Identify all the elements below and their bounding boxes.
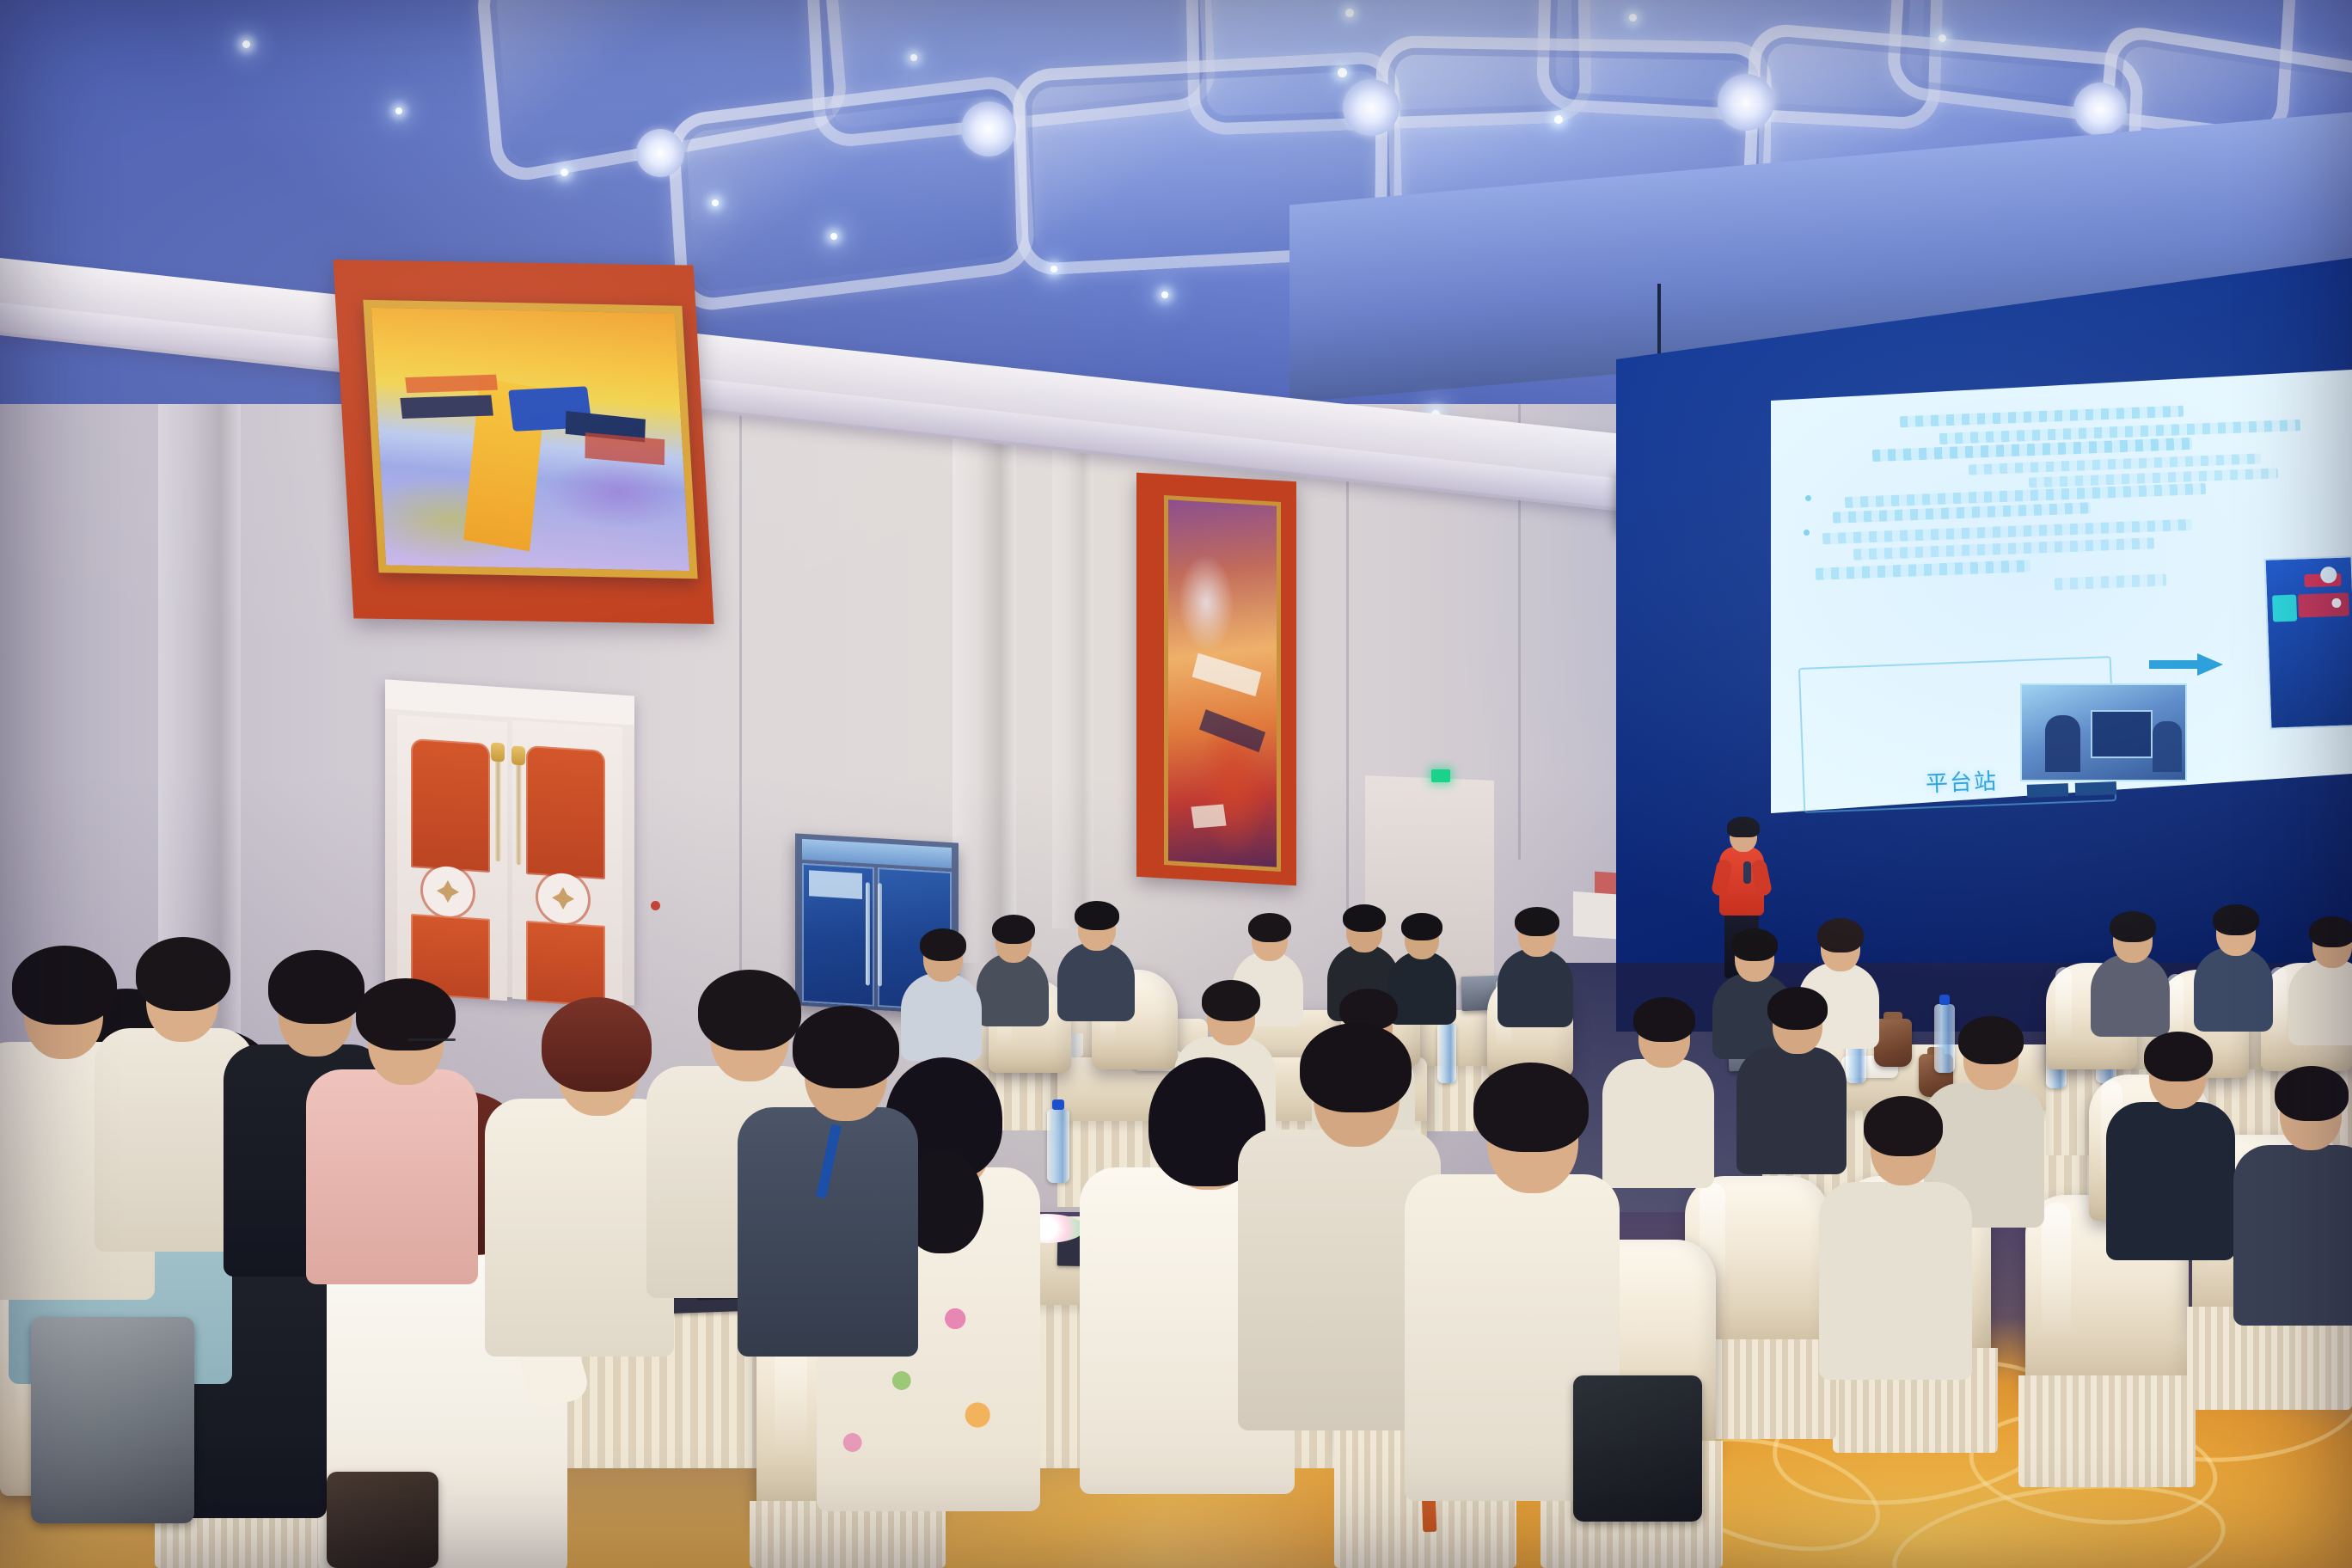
ceiling-rosette bbox=[636, 129, 684, 177]
hair bbox=[920, 928, 966, 961]
hair bbox=[2309, 916, 2352, 947]
torso bbox=[2233, 1145, 2352, 1326]
recessed-downlight bbox=[242, 40, 250, 48]
hair bbox=[1633, 997, 1695, 1042]
door-panel-left bbox=[411, 738, 490, 873]
hair bbox=[1401, 913, 1442, 940]
hair bbox=[2110, 911, 2156, 942]
mobile-promo-banner bbox=[2272, 595, 2297, 622]
hair bbox=[2144, 1032, 2213, 1081]
hair bbox=[1075, 901, 1119, 930]
hair bbox=[992, 915, 1035, 944]
water-bottle[interactable] bbox=[1934, 1004, 1955, 1073]
ceiling-rosette bbox=[961, 101, 1016, 156]
hair bbox=[136, 937, 230, 1011]
hair bbox=[1473, 1063, 1589, 1152]
cooler-label bbox=[809, 870, 862, 899]
hair bbox=[2213, 904, 2259, 935]
ceiling-rosette bbox=[2073, 83, 2127, 136]
cooler-handle-right[interactable] bbox=[878, 883, 882, 986]
clay-teapot[interactable] bbox=[1874, 1019, 1912, 1067]
water-bottle[interactable] bbox=[1047, 1109, 1069, 1183]
torso bbox=[485, 1099, 674, 1357]
abstract-vertical-painting bbox=[1164, 495, 1281, 872]
torso bbox=[1602, 1059, 1714, 1188]
torso bbox=[1057, 942, 1135, 1021]
slide-mobile-preview bbox=[2264, 555, 2352, 729]
paint-stroke bbox=[1199, 709, 1265, 752]
torso bbox=[1736, 1047, 1847, 1174]
torso bbox=[1498, 948, 1573, 1027]
handbag bbox=[1573, 1375, 1702, 1522]
slide-text-block bbox=[1900, 406, 2184, 428]
eyeglasses-icon bbox=[407, 1038, 456, 1041]
slide-thumbnail-photo bbox=[2020, 683, 2187, 781]
recessed-downlight bbox=[1939, 34, 1946, 42]
torso bbox=[2091, 954, 2170, 1037]
hair bbox=[1864, 1096, 1943, 1156]
presenter-hair bbox=[1727, 817, 1760, 837]
recessed-downlight bbox=[1345, 9, 1354, 17]
cooler-handle-left[interactable] bbox=[866, 882, 870, 985]
recessed-downlight bbox=[1554, 115, 1563, 124]
paint-stroke bbox=[1192, 652, 1261, 696]
hair bbox=[1767, 987, 1828, 1030]
hair bbox=[2275, 1066, 2349, 1121]
right-arrow-icon bbox=[2149, 653, 2223, 676]
ceiling-rosette bbox=[1343, 79, 1400, 136]
hair bbox=[1248, 913, 1291, 942]
torso bbox=[901, 973, 982, 1061]
hair bbox=[793, 1006, 899, 1088]
torso bbox=[2288, 959, 2352, 1045]
paint-stroke bbox=[405, 375, 497, 393]
handbag bbox=[327, 1472, 438, 1568]
door-knob-left[interactable] bbox=[491, 742, 505, 762]
slide-text-block bbox=[2055, 574, 2166, 591]
recessed-downlight bbox=[1050, 266, 1057, 273]
mobile-promo-banner bbox=[2298, 592, 2349, 617]
paint-stroke bbox=[1191, 804, 1226, 828]
hair bbox=[1958, 1016, 2024, 1064]
recessed-downlight bbox=[560, 168, 568, 176]
recessed-downlight bbox=[395, 107, 402, 114]
torso bbox=[2194, 947, 2273, 1032]
wall-alarm-icon bbox=[651, 901, 660, 910]
paint-stroke bbox=[401, 395, 493, 419]
hair bbox=[1817, 918, 1864, 952]
conference-hall-photo: 平台站 bbox=[0, 0, 2352, 1568]
slide-card-button bbox=[2027, 783, 2069, 798]
door-panel-lower-right bbox=[526, 921, 605, 1007]
slide-text-block bbox=[1816, 560, 2030, 580]
abstract-landscape-painting bbox=[363, 300, 697, 579]
hair bbox=[698, 970, 801, 1050]
torso bbox=[2106, 1102, 2235, 1260]
recessed-downlight bbox=[830, 233, 837, 240]
slide-card-button bbox=[2075, 781, 2117, 796]
photo-person bbox=[2153, 721, 2182, 772]
recessed-downlight bbox=[1338, 68, 1347, 77]
ceiling-rosette bbox=[1718, 74, 1774, 131]
torso bbox=[1819, 1182, 1972, 1380]
hair bbox=[1300, 1023, 1412, 1112]
paint-stroke bbox=[585, 432, 665, 465]
recessed-downlight bbox=[712, 199, 719, 206]
hair bbox=[12, 946, 117, 1025]
slide-caption-text: 平台站 bbox=[1925, 763, 1998, 798]
door-knob-right[interactable] bbox=[511, 745, 525, 765]
torso bbox=[977, 952, 1049, 1026]
door-handle-right[interactable] bbox=[516, 760, 522, 865]
recessed-downlight bbox=[1629, 14, 1637, 21]
backpack bbox=[31, 1317, 194, 1523]
hair bbox=[1202, 980, 1260, 1021]
chair-skirt bbox=[2018, 1375, 2196, 1487]
hair bbox=[1343, 904, 1386, 932]
photo-monitor bbox=[2091, 710, 2153, 759]
exit-sign-icon bbox=[1431, 769, 1450, 782]
torso bbox=[306, 1069, 478, 1284]
recessed-downlight bbox=[910, 54, 917, 61]
photo-person bbox=[2045, 715, 2081, 772]
slide-bullet-dot bbox=[1804, 530, 1810, 536]
hair bbox=[1515, 907, 1559, 936]
recessed-downlight bbox=[1161, 291, 1168, 298]
torso bbox=[1387, 951, 1456, 1025]
hair bbox=[542, 997, 652, 1092]
door-panel-right bbox=[526, 745, 605, 879]
hair bbox=[268, 950, 364, 1024]
door-handle-left[interactable] bbox=[495, 756, 501, 861]
slide-bullet-dot bbox=[1805, 495, 1811, 501]
water-bottle[interactable] bbox=[1437, 1023, 1456, 1083]
hair bbox=[1731, 928, 1778, 961]
handheld-microphone bbox=[1743, 861, 1751, 884]
